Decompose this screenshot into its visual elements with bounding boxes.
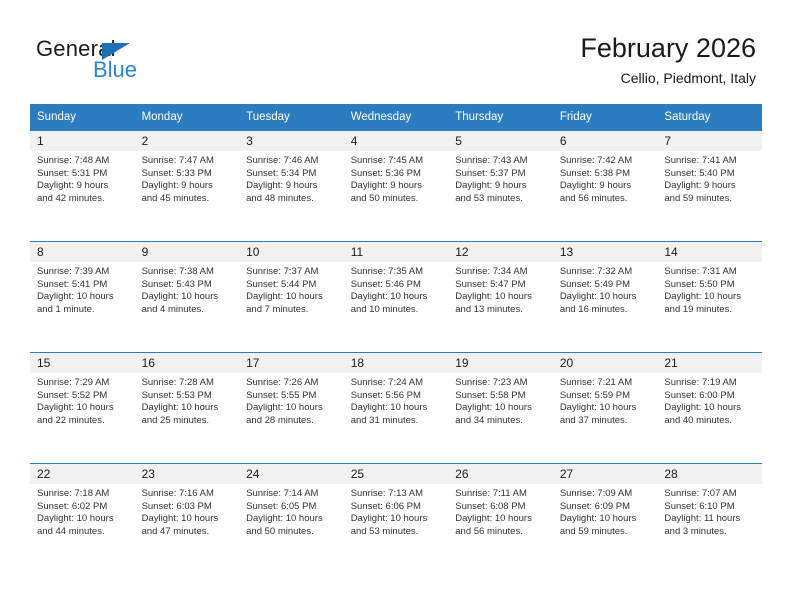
day-cell[interactable]: 15 Sunrise: 7:29 AM Sunset: 5:52 PM Dayl… <box>30 353 135 464</box>
sunset-text: Sunset: 5:34 PM <box>246 168 338 181</box>
day-cell[interactable]: 21 Sunrise: 7:19 AM Sunset: 6:00 PM Dayl… <box>657 353 762 464</box>
day-cell[interactable]: 5 Sunrise: 7:43 AM Sunset: 5:37 PM Dayli… <box>448 131 553 242</box>
daylight-line1: Daylight: 10 hours <box>351 402 443 415</box>
day-number: 26 <box>448 464 553 484</box>
sunrise-text: Sunrise: 7:48 AM <box>37 155 129 168</box>
day-number: 15 <box>30 353 135 373</box>
brand-name-blue: Blue <box>93 57 137 83</box>
sunrise-text: Sunrise: 7:35 AM <box>351 266 443 279</box>
day-details: Sunrise: 7:32 AM Sunset: 5:49 PM Dayligh… <box>553 262 658 316</box>
day-number: 13 <box>553 242 658 262</box>
daylight-line2: and 56 minutes. <box>560 193 652 206</box>
day-details: Sunrise: 7:34 AM Sunset: 5:47 PM Dayligh… <box>448 262 553 316</box>
daylight-line1: Daylight: 9 hours <box>664 180 756 193</box>
daylight-line2: and 50 minutes. <box>246 526 338 539</box>
day-details: Sunrise: 7:38 AM Sunset: 5:43 PM Dayligh… <box>135 262 240 316</box>
day-number: 16 <box>135 353 240 373</box>
daylight-line2: and 10 minutes. <box>351 304 443 317</box>
sunrise-text: Sunrise: 7:19 AM <box>664 377 756 390</box>
day-number: 10 <box>239 242 344 262</box>
page-title: February 2026 <box>580 32 756 64</box>
day-number: 21 <box>657 353 762 373</box>
sunset-text: Sunset: 5:49 PM <box>560 279 652 292</box>
daylight-line1: Daylight: 10 hours <box>37 402 129 415</box>
sunrise-text: Sunrise: 7:41 AM <box>664 155 756 168</box>
sunset-text: Sunset: 6:00 PM <box>664 390 756 403</box>
day-cell[interactable]: 16 Sunrise: 7:28 AM Sunset: 5:53 PM Dayl… <box>135 353 240 464</box>
day-details: Sunrise: 7:24 AM Sunset: 5:56 PM Dayligh… <box>344 373 449 427</box>
day-details: Sunrise: 7:45 AM Sunset: 5:36 PM Dayligh… <box>344 151 449 205</box>
daylight-line2: and 44 minutes. <box>37 526 129 539</box>
daylight-line2: and 47 minutes. <box>142 526 234 539</box>
daylight-line2: and 7 minutes. <box>246 304 338 317</box>
brand-logo[interactable]: General Blue <box>36 36 256 92</box>
sunset-text: Sunset: 5:59 PM <box>560 390 652 403</box>
weekday-header-tuesday: Tuesday <box>239 104 344 131</box>
day-cell[interactable]: 1 Sunrise: 7:48 AM Sunset: 5:31 PM Dayli… <box>30 131 135 242</box>
day-cell[interactable]: 4 Sunrise: 7:45 AM Sunset: 5:36 PM Dayli… <box>344 131 449 242</box>
sunset-text: Sunset: 5:56 PM <box>351 390 443 403</box>
daylight-line1: Daylight: 10 hours <box>37 513 129 526</box>
sunset-text: Sunset: 6:08 PM <box>455 501 547 514</box>
daylight-line1: Daylight: 9 hours <box>455 180 547 193</box>
daylight-line1: Daylight: 10 hours <box>455 291 547 304</box>
day-details: Sunrise: 7:35 AM Sunset: 5:46 PM Dayligh… <box>344 262 449 316</box>
day-number: 19 <box>448 353 553 373</box>
calendar-week-row: 15 Sunrise: 7:29 AM Sunset: 5:52 PM Dayl… <box>30 353 762 464</box>
title-block: February 2026 Cellio, Piedmont, Italy <box>580 32 756 88</box>
sunset-text: Sunset: 5:38 PM <box>560 168 652 181</box>
day-details: Sunrise: 7:13 AM Sunset: 6:06 PM Dayligh… <box>344 484 449 538</box>
day-details: Sunrise: 7:11 AM Sunset: 6:08 PM Dayligh… <box>448 484 553 538</box>
day-cell[interactable]: 7 Sunrise: 7:41 AM Sunset: 5:40 PM Dayli… <box>657 131 762 242</box>
day-cell[interactable]: 6 Sunrise: 7:42 AM Sunset: 5:38 PM Dayli… <box>553 131 658 242</box>
day-cell[interactable]: 18 Sunrise: 7:24 AM Sunset: 5:56 PM Dayl… <box>344 353 449 464</box>
day-number: 6 <box>553 131 658 151</box>
sunset-text: Sunset: 5:46 PM <box>351 279 443 292</box>
sunrise-text: Sunrise: 7:34 AM <box>455 266 547 279</box>
day-details: Sunrise: 7:16 AM Sunset: 6:03 PM Dayligh… <box>135 484 240 538</box>
day-details: Sunrise: 7:37 AM Sunset: 5:44 PM Dayligh… <box>239 262 344 316</box>
daylight-line1: Daylight: 10 hours <box>560 402 652 415</box>
day-cell[interactable]: 8 Sunrise: 7:39 AM Sunset: 5:41 PM Dayli… <box>30 242 135 353</box>
daylight-line2: and 59 minutes. <box>560 526 652 539</box>
day-cell[interactable]: 3 Sunrise: 7:46 AM Sunset: 5:34 PM Dayli… <box>239 131 344 242</box>
daylight-line2: and 3 minutes. <box>664 526 756 539</box>
day-cell[interactable]: 17 Sunrise: 7:26 AM Sunset: 5:55 PM Dayl… <box>239 353 344 464</box>
daylight-line2: and 13 minutes. <box>455 304 547 317</box>
calendar-grid: Sunday Monday Tuesday Wednesday Thursday… <box>30 104 762 574</box>
day-cell[interactable]: 26 Sunrise: 7:11 AM Sunset: 6:08 PM Dayl… <box>448 464 553 575</box>
daylight-line1: Daylight: 10 hours <box>351 513 443 526</box>
day-number: 4 <box>344 131 449 151</box>
day-number: 11 <box>344 242 449 262</box>
daylight-line1: Daylight: 9 hours <box>246 180 338 193</box>
day-number: 14 <box>657 242 762 262</box>
day-details: Sunrise: 7:18 AM Sunset: 6:02 PM Dayligh… <box>30 484 135 538</box>
sunrise-text: Sunrise: 7:21 AM <box>560 377 652 390</box>
daylight-line1: Daylight: 10 hours <box>455 513 547 526</box>
day-cell[interactable]: 27 Sunrise: 7:09 AM Sunset: 6:09 PM Dayl… <box>553 464 658 575</box>
day-cell[interactable]: 9 Sunrise: 7:38 AM Sunset: 5:43 PM Dayli… <box>135 242 240 353</box>
day-cell[interactable]: 12 Sunrise: 7:34 AM Sunset: 5:47 PM Dayl… <box>448 242 553 353</box>
daylight-line2: and 37 minutes. <box>560 415 652 428</box>
day-details: Sunrise: 7:07 AM Sunset: 6:10 PM Dayligh… <box>657 484 762 538</box>
daylight-line1: Daylight: 10 hours <box>246 513 338 526</box>
calendar-page: General Blue February 2026 Cellio, Piedm… <box>0 0 792 612</box>
day-cell[interactable]: 19 Sunrise: 7:23 AM Sunset: 5:58 PM Dayl… <box>448 353 553 464</box>
daylight-line2: and 56 minutes. <box>455 526 547 539</box>
sunrise-text: Sunrise: 7:29 AM <box>37 377 129 390</box>
weekday-header-friday: Friday <box>553 104 658 131</box>
daylight-line2: and 50 minutes. <box>351 193 443 206</box>
day-details: Sunrise: 7:39 AM Sunset: 5:41 PM Dayligh… <box>30 262 135 316</box>
daylight-line2: and 31 minutes. <box>351 415 443 428</box>
day-details: Sunrise: 7:14 AM Sunset: 6:05 PM Dayligh… <box>239 484 344 538</box>
day-details: Sunrise: 7:31 AM Sunset: 5:50 PM Dayligh… <box>657 262 762 316</box>
day-details: Sunrise: 7:09 AM Sunset: 6:09 PM Dayligh… <box>553 484 658 538</box>
day-number: 20 <box>553 353 658 373</box>
day-number: 22 <box>30 464 135 484</box>
daylight-line1: Daylight: 10 hours <box>142 513 234 526</box>
calendar-header-row: Sunday Monday Tuesday Wednesday Thursday… <box>30 104 762 131</box>
day-number: 12 <box>448 242 553 262</box>
day-number: 18 <box>344 353 449 373</box>
day-number: 28 <box>657 464 762 484</box>
day-cell[interactable]: 10 Sunrise: 7:37 AM Sunset: 5:44 PM Dayl… <box>239 242 344 353</box>
daylight-line1: Daylight: 10 hours <box>455 402 547 415</box>
day-details: Sunrise: 7:41 AM Sunset: 5:40 PM Dayligh… <box>657 151 762 205</box>
daylight-line2: and 42 minutes. <box>37 193 129 206</box>
day-details: Sunrise: 7:19 AM Sunset: 6:00 PM Dayligh… <box>657 373 762 427</box>
daylight-line2: and 28 minutes. <box>246 415 338 428</box>
sunrise-text: Sunrise: 7:47 AM <box>142 155 234 168</box>
daylight-line2: and 1 minute. <box>37 304 129 317</box>
day-details: Sunrise: 7:46 AM Sunset: 5:34 PM Dayligh… <box>239 151 344 205</box>
day-cell[interactable]: 2 Sunrise: 7:47 AM Sunset: 5:33 PM Dayli… <box>135 131 240 242</box>
daylight-line1: Daylight: 10 hours <box>142 291 234 304</box>
day-number: 7 <box>657 131 762 151</box>
sunset-text: Sunset: 5:50 PM <box>664 279 756 292</box>
day-cell[interactable]: 11 Sunrise: 7:35 AM Sunset: 5:46 PM Dayl… <box>344 242 449 353</box>
weekday-header-thursday: Thursday <box>448 104 553 131</box>
page-subtitle: Cellio, Piedmont, Italy <box>580 68 756 88</box>
sunrise-text: Sunrise: 7:45 AM <box>351 155 443 168</box>
sunrise-text: Sunrise: 7:23 AM <box>455 377 547 390</box>
sunset-text: Sunset: 5:58 PM <box>455 390 547 403</box>
day-number: 1 <box>30 131 135 151</box>
sunrise-text: Sunrise: 7:43 AM <box>455 155 547 168</box>
daylight-line1: Daylight: 10 hours <box>37 291 129 304</box>
sunset-text: Sunset: 5:33 PM <box>142 168 234 181</box>
sunrise-text: Sunrise: 7:26 AM <box>246 377 338 390</box>
sunset-text: Sunset: 6:02 PM <box>37 501 129 514</box>
sunset-text: Sunset: 6:03 PM <box>142 501 234 514</box>
sunrise-text: Sunrise: 7:09 AM <box>560 488 652 501</box>
weekday-header-monday: Monday <box>135 104 240 131</box>
day-cell[interactable]: 28 Sunrise: 7:07 AM Sunset: 6:10 PM Dayl… <box>657 464 762 575</box>
daylight-line1: Daylight: 10 hours <box>560 291 652 304</box>
day-details: Sunrise: 7:47 AM Sunset: 5:33 PM Dayligh… <box>135 151 240 205</box>
sunrise-text: Sunrise: 7:46 AM <box>246 155 338 168</box>
sunset-text: Sunset: 5:36 PM <box>351 168 443 181</box>
daylight-line1: Daylight: 10 hours <box>246 402 338 415</box>
sunrise-text: Sunrise: 7:24 AM <box>351 377 443 390</box>
day-details: Sunrise: 7:23 AM Sunset: 5:58 PM Dayligh… <box>448 373 553 427</box>
day-details: Sunrise: 7:21 AM Sunset: 5:59 PM Dayligh… <box>553 373 658 427</box>
sunset-text: Sunset: 6:05 PM <box>246 501 338 514</box>
weekday-header-wednesday: Wednesday <box>344 104 449 131</box>
daylight-line1: Daylight: 9 hours <box>351 180 443 193</box>
day-cell[interactable]: 14 Sunrise: 7:31 AM Sunset: 5:50 PM Dayl… <box>657 242 762 353</box>
daylight-line1: Daylight: 9 hours <box>37 180 129 193</box>
sunset-text: Sunset: 5:43 PM <box>142 279 234 292</box>
day-details: Sunrise: 7:43 AM Sunset: 5:37 PM Dayligh… <box>448 151 553 205</box>
daylight-line1: Daylight: 10 hours <box>246 291 338 304</box>
daylight-line2: and 53 minutes. <box>455 193 547 206</box>
sunrise-text: Sunrise: 7:14 AM <box>246 488 338 501</box>
sunset-text: Sunset: 5:40 PM <box>664 168 756 181</box>
sunrise-text: Sunrise: 7:38 AM <box>142 266 234 279</box>
daylight-line2: and 45 minutes. <box>142 193 234 206</box>
calendar-week-row: 22 Sunrise: 7:18 AM Sunset: 6:02 PM Dayl… <box>30 464 762 575</box>
day-cell[interactable]: 13 Sunrise: 7:32 AM Sunset: 5:49 PM Dayl… <box>553 242 658 353</box>
day-cell[interactable]: 25 Sunrise: 7:13 AM Sunset: 6:06 PM Dayl… <box>344 464 449 575</box>
sunrise-text: Sunrise: 7:31 AM <box>664 266 756 279</box>
day-details: Sunrise: 7:26 AM Sunset: 5:55 PM Dayligh… <box>239 373 344 427</box>
daylight-line2: and 22 minutes. <box>37 415 129 428</box>
sunrise-text: Sunrise: 7:16 AM <box>142 488 234 501</box>
day-number: 17 <box>239 353 344 373</box>
day-cell[interactable]: 23 Sunrise: 7:16 AM Sunset: 6:03 PM Dayl… <box>135 464 240 575</box>
calendar-week-row: 8 Sunrise: 7:39 AM Sunset: 5:41 PM Dayli… <box>30 242 762 353</box>
sunset-text: Sunset: 5:52 PM <box>37 390 129 403</box>
sunrise-text: Sunrise: 7:13 AM <box>351 488 443 501</box>
day-details: Sunrise: 7:29 AM Sunset: 5:52 PM Dayligh… <box>30 373 135 427</box>
daylight-line2: and 59 minutes. <box>664 193 756 206</box>
sunset-text: Sunset: 5:44 PM <box>246 279 338 292</box>
day-number: 23 <box>135 464 240 484</box>
calendar-week-row: 1 Sunrise: 7:48 AM Sunset: 5:31 PM Dayli… <box>30 131 762 242</box>
daylight-line2: and 40 minutes. <box>664 415 756 428</box>
calendar-body: 1 Sunrise: 7:48 AM Sunset: 5:31 PM Dayli… <box>30 131 762 574</box>
sunset-text: Sunset: 5:41 PM <box>37 279 129 292</box>
sunset-text: Sunset: 5:47 PM <box>455 279 547 292</box>
sunrise-text: Sunrise: 7:32 AM <box>560 266 652 279</box>
sunset-text: Sunset: 5:31 PM <box>37 168 129 181</box>
sunrise-text: Sunrise: 7:28 AM <box>142 377 234 390</box>
daylight-line1: Daylight: 10 hours <box>664 291 756 304</box>
day-cell[interactable]: 20 Sunrise: 7:21 AM Sunset: 5:59 PM Dayl… <box>553 353 658 464</box>
day-number: 3 <box>239 131 344 151</box>
day-details: Sunrise: 7:28 AM Sunset: 5:53 PM Dayligh… <box>135 373 240 427</box>
sunset-text: Sunset: 6:06 PM <box>351 501 443 514</box>
sunrise-text: Sunrise: 7:42 AM <box>560 155 652 168</box>
sunrise-text: Sunrise: 7:11 AM <box>455 488 547 501</box>
day-number: 5 <box>448 131 553 151</box>
daylight-line1: Daylight: 10 hours <box>664 402 756 415</box>
day-number: 9 <box>135 242 240 262</box>
weekday-header-saturday: Saturday <box>657 104 762 131</box>
page-header: General Blue February 2026 Cellio, Piedm… <box>0 0 792 104</box>
daylight-line1: Daylight: 10 hours <box>142 402 234 415</box>
sunset-text: Sunset: 6:09 PM <box>560 501 652 514</box>
daylight-line2: and 48 minutes. <box>246 193 338 206</box>
daylight-line2: and 4 minutes. <box>142 304 234 317</box>
daylight-line2: and 16 minutes. <box>560 304 652 317</box>
day-details: Sunrise: 7:48 AM Sunset: 5:31 PM Dayligh… <box>30 151 135 205</box>
day-number: 24 <box>239 464 344 484</box>
sunrise-text: Sunrise: 7:18 AM <box>37 488 129 501</box>
daylight-line1: Daylight: 11 hours <box>664 513 756 526</box>
day-details: Sunrise: 7:42 AM Sunset: 5:38 PM Dayligh… <box>553 151 658 205</box>
sunset-text: Sunset: 5:37 PM <box>455 168 547 181</box>
day-number: 27 <box>553 464 658 484</box>
daylight-line1: Daylight: 10 hours <box>351 291 443 304</box>
sunset-text: Sunset: 5:55 PM <box>246 390 338 403</box>
daylight-line2: and 34 minutes. <box>455 415 547 428</box>
daylight-line2: and 53 minutes. <box>351 526 443 539</box>
sunrise-text: Sunrise: 7:39 AM <box>37 266 129 279</box>
sunrise-text: Sunrise: 7:07 AM <box>664 488 756 501</box>
daylight-line1: Daylight: 10 hours <box>560 513 652 526</box>
day-number: 25 <box>344 464 449 484</box>
sunset-text: Sunset: 5:53 PM <box>142 390 234 403</box>
day-number: 8 <box>30 242 135 262</box>
weekday-header-sunday: Sunday <box>30 104 135 131</box>
sunset-text: Sunset: 6:10 PM <box>664 501 756 514</box>
daylight-line1: Daylight: 9 hours <box>142 180 234 193</box>
day-cell[interactable]: 24 Sunrise: 7:14 AM Sunset: 6:05 PM Dayl… <box>239 464 344 575</box>
day-number: 2 <box>135 131 240 151</box>
day-cell[interactable]: 22 Sunrise: 7:18 AM Sunset: 6:02 PM Dayl… <box>30 464 135 575</box>
daylight-line2: and 25 minutes. <box>142 415 234 428</box>
daylight-line2: and 19 minutes. <box>664 304 756 317</box>
daylight-line1: Daylight: 9 hours <box>560 180 652 193</box>
calendar-table: Sunday Monday Tuesday Wednesday Thursday… <box>30 104 762 574</box>
sunrise-text: Sunrise: 7:37 AM <box>246 266 338 279</box>
